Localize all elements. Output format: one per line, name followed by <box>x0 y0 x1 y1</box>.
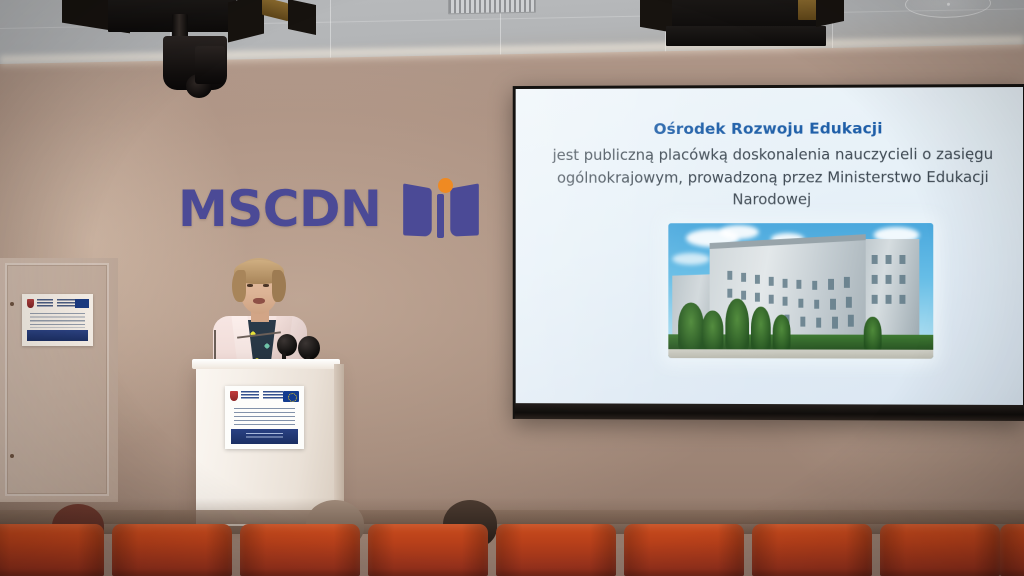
microphone-head-left <box>277 334 297 356</box>
open-book-icon <box>403 178 479 240</box>
stage-light-barn-door-left-3 <box>288 0 316 35</box>
ceiling-speaker-icon <box>905 0 991 19</box>
eu-flag-icon <box>75 299 89 308</box>
stage-light-right-lower <box>666 26 826 46</box>
mscdn-logo-text: MSCDN <box>178 184 381 234</box>
audience-seat <box>240 524 360 576</box>
polish-coat-of-arms-icon <box>230 391 238 401</box>
slide-body-line-2: ogólnokrajowym, prowadzoną przez Ministe… <box>529 166 1017 211</box>
audience-seat <box>112 524 232 576</box>
audience-seat <box>752 524 872 576</box>
audience-seat <box>1000 524 1024 576</box>
eu-flag-icon <box>283 391 299 402</box>
audience-seating-row <box>0 524 1024 576</box>
wall-eu-funding-poster <box>22 294 93 346</box>
mscdn-wall-logo: MSCDN <box>178 178 479 240</box>
camera-arm <box>195 46 225 84</box>
screen-bottom-frame <box>515 403 1024 421</box>
polish-coat-of-arms-icon <box>27 299 34 308</box>
slide-building-photo <box>668 223 933 359</box>
podium-eu-funding-poster <box>225 386 304 449</box>
audience-seat <box>880 524 1000 576</box>
audience-seat <box>0 524 104 576</box>
air-vent-grille <box>448 0 536 14</box>
auditorium-scene: MSCDN Ośrodek Rozwoju Edukacji jest publ… <box>0 0 1024 576</box>
side-door[interactable] <box>0 258 118 502</box>
slide-title: Ośrodek Rozwoju Edukacji <box>516 119 1023 138</box>
audience-seat <box>624 524 744 576</box>
audience-seat <box>496 524 616 576</box>
projection-screen[interactable]: Ośrodek Rozwoju Edukacji jest publiczną … <box>513 84 1024 421</box>
slide-body: jest publiczną placówką doskonalenia nau… <box>529 143 1017 211</box>
projected-slide: Ośrodek Rozwoju Edukacji jest publiczną … <box>516 87 1023 405</box>
slide-body-line-1: jest publiczną placówką doskonalenia nau… <box>529 143 1017 167</box>
audience-seat <box>368 524 488 576</box>
